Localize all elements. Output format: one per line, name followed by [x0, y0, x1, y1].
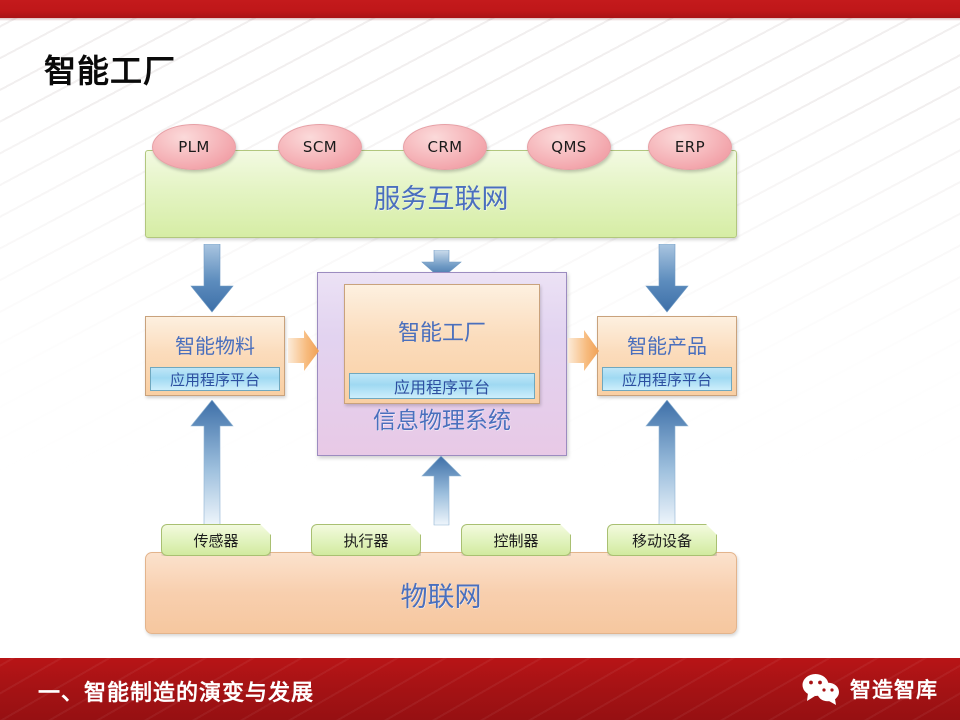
node-plm[interactable]: PLM: [152, 124, 236, 170]
arrow-down-right-icon: [645, 244, 689, 314]
tag-actuator-label: 执行器: [343, 530, 388, 551]
component-smart-factory-platform: 应用程序平台: [349, 373, 535, 399]
component-smart-factory[interactable]: 智能工厂 应用程序平台: [344, 284, 540, 404]
tag-sensor-label: 传感器: [193, 530, 238, 551]
smart-factory-diagram: 服务互联网 PLM SCM CRM QMS ERP: [0, 0, 960, 660]
zone-iot-label: 物联网: [146, 575, 736, 614]
arrow-right-cps-to-product-icon: [568, 330, 600, 372]
zone-service-internet-label: 服务互联网: [146, 177, 736, 216]
arrow-up-center-icon: [421, 456, 463, 526]
node-qms[interactable]: QMS: [527, 124, 611, 170]
footer-bar: 一、智能制造的演变与发展 智造智库: [0, 658, 960, 720]
node-scm[interactable]: SCM: [278, 124, 362, 170]
slide-canvas: 智能工厂 服务互联网 PLM SCM CRM QMS ERP: [0, 0, 960, 720]
component-smart-material[interactable]: 智能物料 应用程序平台: [145, 316, 285, 396]
footer-brand: 智造智库: [801, 672, 938, 706]
arrow-up-left-icon: [190, 400, 234, 526]
wechat-icon: [801, 672, 841, 706]
tag-mobile-device[interactable]: 移动设备: [607, 524, 717, 556]
top-red-bar: [0, 0, 960, 18]
arrow-up-right-icon: [645, 400, 689, 526]
zone-cps-label: 信息物理系统: [318, 401, 566, 435]
top-bar-shadow: [0, 18, 960, 21]
node-plm-label: PLM: [178, 138, 210, 156]
component-smart-product[interactable]: 智能产品 应用程序平台: [597, 316, 737, 396]
node-erp[interactable]: ERP: [648, 124, 732, 170]
footer-brand-text: 智造智库: [850, 674, 938, 704]
component-smart-material-platform: 应用程序平台: [150, 367, 280, 391]
node-scm-label: SCM: [303, 138, 337, 156]
tag-actuator[interactable]: 执行器: [311, 524, 421, 556]
arrow-right-material-to-cps-icon: [288, 330, 320, 372]
node-qms-label: QMS: [551, 138, 586, 156]
node-crm-label: CRM: [427, 138, 462, 156]
node-erp-label: ERP: [675, 138, 705, 156]
node-crm[interactable]: CRM: [403, 124, 487, 170]
tag-controller[interactable]: 控制器: [461, 524, 571, 556]
zone-internet-of-things: 物联网: [145, 552, 737, 634]
arrow-down-left-icon: [190, 244, 234, 314]
tag-controller-label: 控制器: [493, 530, 538, 551]
component-smart-product-platform: 应用程序平台: [602, 367, 732, 391]
footer-section-title: 一、智能制造的演变与发展: [38, 675, 314, 707]
tag-sensor[interactable]: 传感器: [161, 524, 271, 556]
page-title: 智能工厂: [44, 46, 176, 92]
tag-mobile-device-label: 移动设备: [632, 530, 692, 551]
